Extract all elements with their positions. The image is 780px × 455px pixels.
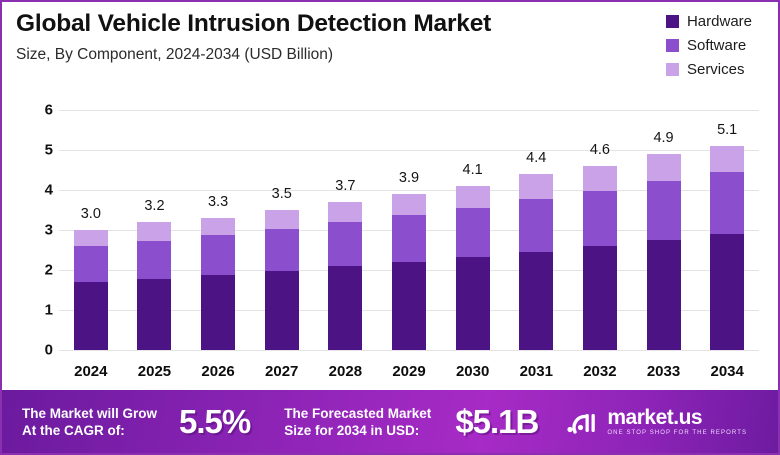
bar-2028[interactable] — [328, 202, 362, 350]
bar-segment-hardware-2027[interactable] — [265, 271, 299, 350]
market-us-logo-icon — [566, 409, 600, 435]
bar-value-label-2032: 4.6 — [590, 142, 610, 158]
legend-label-hardware: Hardware — [687, 13, 752, 30]
y-axis-tick-0: 0 — [27, 342, 53, 359]
bar-2026[interactable] — [201, 218, 235, 350]
legend-item-services[interactable]: Services — [666, 58, 752, 80]
bar-segment-software-2030[interactable] — [456, 208, 490, 257]
bar-value-label-2027: 3.5 — [272, 186, 292, 202]
legend-swatch-hardware — [666, 15, 679, 28]
bar-segment-services-2029[interactable] — [392, 194, 426, 215]
brand-logo[interactable]: market.us ONE STOP SHOP FOR THE REPORTS — [566, 407, 747, 436]
bar-2034[interactable] — [710, 146, 744, 350]
x-axis-tick-2026: 2026 — [201, 363, 234, 380]
y-axis-tick-2: 2 — [27, 262, 53, 279]
bar-segment-hardware-2028[interactable] — [328, 266, 362, 350]
page-title: Global Vehicle Intrusion Detection Marke… — [16, 10, 491, 38]
bar-2030[interactable] — [456, 186, 490, 350]
bar-segment-services-2024[interactable] — [74, 230, 108, 246]
y-axis-tick-4: 4 — [27, 182, 53, 199]
bar-segment-services-2028[interactable] — [328, 202, 362, 222]
bar-value-label-2034: 5.1 — [717, 122, 737, 138]
forecast-value: $5.1B — [455, 403, 538, 441]
legend-item-software[interactable]: Software — [666, 34, 752, 56]
bar-segment-software-2029[interactable] — [392, 215, 426, 262]
bar-segment-services-2025[interactable] — [137, 222, 171, 241]
bar-segment-services-2034[interactable] — [710, 146, 744, 172]
x-axis-tick-2033: 2033 — [647, 363, 680, 380]
forecast-label-line2: Size for 2034 in USD: — [284, 422, 431, 439]
bar-value-label-2026: 3.3 — [208, 194, 228, 210]
bar-segment-software-2028[interactable] — [328, 222, 362, 266]
bar-segment-software-2027[interactable] — [265, 229, 299, 271]
legend-swatch-software — [666, 39, 679, 52]
bar-segment-hardware-2031[interactable] — [519, 252, 553, 350]
cagr-label: The Market will Grow At the CAGR of: — [22, 405, 157, 439]
bar-segment-hardware-2024[interactable] — [74, 282, 108, 350]
bar-segment-software-2024[interactable] — [74, 246, 108, 282]
bar-segment-software-2031[interactable] — [519, 199, 553, 252]
bar-2031[interactable] — [519, 174, 553, 350]
cagr-label-line1: The Market will Grow — [22, 405, 157, 422]
chart-legend: Hardware Software Services — [666, 10, 752, 82]
chart-figure: Global Vehicle Intrusion Detection Marke… — [0, 0, 780, 455]
bar-2033[interactable] — [647, 154, 681, 350]
legend-label-services: Services — [687, 61, 745, 78]
x-axis-tick-2024: 2024 — [74, 363, 107, 380]
legend-item-hardware[interactable]: Hardware — [666, 10, 752, 32]
bar-segment-services-2026[interactable] — [201, 218, 235, 235]
bar-segment-hardware-2029[interactable] — [392, 262, 426, 350]
x-axis-tick-2028: 2028 — [329, 363, 362, 380]
bar-segment-hardware-2033[interactable] — [647, 240, 681, 350]
bar-2032[interactable] — [583, 166, 617, 350]
bar-value-label-2031: 4.4 — [526, 150, 546, 166]
logo-tagline: ONE STOP SHOP FOR THE REPORTS — [607, 430, 747, 436]
cagr-label-line2: At the CAGR of: — [22, 422, 157, 439]
bar-value-label-2028: 3.7 — [335, 178, 355, 194]
bar-2029[interactable] — [392, 194, 426, 350]
y-axis-tick-1: 1 — [27, 302, 53, 319]
bar-series-container: 3.020243.220253.320263.520273.720283.920… — [59, 90, 759, 390]
bar-segment-hardware-2026[interactable] — [201, 275, 235, 350]
logo-wordmark: market.us — [607, 407, 747, 428]
legend-swatch-services — [666, 63, 679, 76]
bar-segment-hardware-2025[interactable] — [137, 279, 171, 350]
bar-value-label-2030: 4.1 — [463, 162, 483, 178]
bar-value-label-2025: 3.2 — [144, 198, 164, 214]
bar-segment-services-2033[interactable] — [647, 154, 681, 181]
bar-segment-services-2030[interactable] — [456, 186, 490, 208]
footer-banner: The Market will Grow At the CAGR of: 5.5… — [2, 390, 778, 453]
bar-value-label-2029: 3.9 — [399, 170, 419, 186]
x-axis-tick-2031: 2031 — [520, 363, 553, 380]
x-axis-tick-2034: 2034 — [710, 363, 743, 380]
bar-segment-software-2025[interactable] — [137, 241, 171, 279]
bar-segment-hardware-2032[interactable] — [583, 246, 617, 350]
cagr-value: 5.5% — [179, 403, 250, 441]
forecast-label-line1: The Forecasted Market — [284, 405, 431, 422]
plot-area: 0123456 3.020243.220253.320263.520273.72… — [2, 90, 778, 390]
y-axis-tick-3: 3 — [27, 222, 53, 239]
x-axis-tick-2025: 2025 — [138, 363, 171, 380]
bar-segment-software-2034[interactable] — [710, 172, 744, 234]
bar-2024[interactable] — [74, 230, 108, 350]
bar-2027[interactable] — [265, 210, 299, 350]
bar-segment-software-2033[interactable] — [647, 181, 681, 240]
bar-segment-hardware-2030[interactable] — [456, 257, 490, 350]
bar-value-label-2033: 4.9 — [653, 130, 673, 146]
bar-value-label-2024: 3.0 — [81, 206, 101, 222]
x-axis-tick-2032: 2032 — [583, 363, 616, 380]
y-axis-tick-5: 5 — [27, 142, 53, 159]
bar-segment-services-2027[interactable] — [265, 210, 299, 229]
bar-segment-services-2031[interactable] — [519, 174, 553, 199]
bar-segment-services-2032[interactable] — [583, 166, 617, 191]
chart-subtitle: Size, By Component, 2024-2034 (USD Billi… — [16, 46, 333, 64]
x-axis-tick-2029: 2029 — [392, 363, 425, 380]
bar-segment-software-2032[interactable] — [583, 191, 617, 246]
bar-2025[interactable] — [137, 222, 171, 350]
bar-segment-hardware-2034[interactable] — [710, 234, 744, 350]
bar-segment-software-2026[interactable] — [201, 235, 235, 275]
x-axis-tick-2027: 2027 — [265, 363, 298, 380]
forecast-label: The Forecasted Market Size for 2034 in U… — [284, 405, 431, 439]
chart-header: Global Vehicle Intrusion Detection Marke… — [2, 2, 778, 90]
legend-label-software: Software — [687, 37, 746, 54]
y-axis-tick-6: 6 — [27, 102, 53, 119]
x-axis-tick-2030: 2030 — [456, 363, 489, 380]
